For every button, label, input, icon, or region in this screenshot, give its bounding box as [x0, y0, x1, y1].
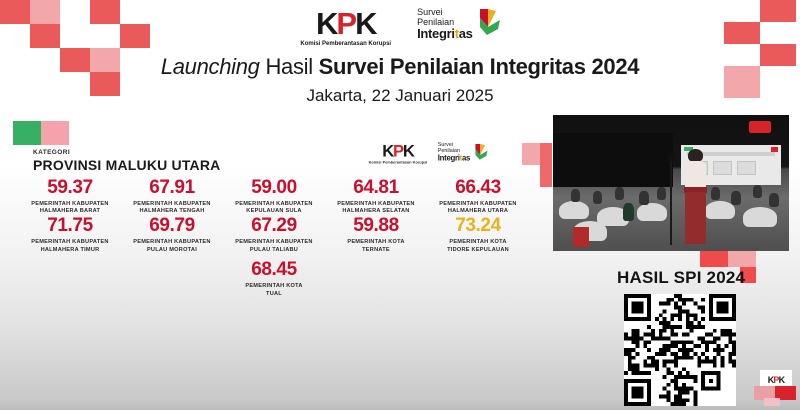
score-label: PEMERINTAH KABUPATENHALMAHERA SELATAN — [327, 201, 425, 216]
score-row: 59.37PEMERINTAH KABUPATENHALMAHERA BARAT… — [18, 178, 530, 216]
score-value: 66.43 — [429, 178, 527, 198]
title-bold-part: Survei Penilaian Integritas 2024 — [319, 54, 640, 79]
kpk-wordmark: KPK — [316, 8, 375, 39]
kpk-letter-k1: K — [316, 6, 336, 41]
score-label: PEMERINTAH KABUPATENHALMAHERA TENGAH — [123, 201, 221, 216]
spi-logo: Survei Penilaian Integritas — [417, 8, 500, 41]
score-cell: 66.43PEMERINTAH KABUPATENHALMAHERA UTARA — [427, 178, 529, 216]
score-row: 71.75PEMERINTAH KABUPATENHALMAHERA TIMUR… — [18, 216, 530, 254]
logo-lockup: KPK Komisi Pemberantasan Korupsi Survei … — [0, 0, 800, 47]
qr-code[interactable] — [624, 294, 736, 406]
kpk-tagline: Komisi Pemberantasan Korupsi — [300, 41, 391, 47]
score-value: 69.79 — [123, 216, 221, 236]
score-label-line1: PEMERINTAH KABUPATEN — [21, 201, 119, 209]
chip-pink — [41, 121, 69, 145]
photo-table — [559, 201, 589, 219]
score-cell: 59.88PEMERINTAH KOTATERNATE — [325, 216, 427, 254]
score-cell: 64.81PEMERINTAH KABUPATENHALMAHERA SELAT… — [325, 178, 427, 216]
inline-spi-checkmark-icon — [473, 144, 488, 160]
photo-attendee — [615, 187, 624, 200]
score-label: PEMERINTAH KABUPATENPULAU TALIABU — [225, 239, 323, 254]
inline-kpk-logo: KPK Komisi Pemberantasan Korupsi — [370, 143, 426, 165]
score-value: 73.24 — [429, 216, 527, 236]
spi-integri-text: Integri — [417, 26, 455, 41]
score-label-line1: PEMERINTAH KOTA — [225, 283, 323, 291]
inline-spi-line-integritas: Integritas — [438, 155, 470, 163]
kpk-watermark: KPK — [754, 368, 796, 406]
score-cell: 71.75PEMERINTAH KABUPATENHALMAHERA TIMUR — [19, 216, 121, 254]
photo-screen-box-2 — [713, 161, 732, 175]
inline-kpk-letter-k1: K — [382, 142, 393, 161]
watermark-square-light — [764, 398, 780, 406]
inline-kpk-tagline: Komisi Pemberantasan Korupsi — [369, 161, 428, 165]
score-label-line2: PULAU MOROTAI — [123, 247, 221, 255]
photo-attendee — [623, 203, 634, 221]
category-name: PROVINSI MALUKU UTARA — [33, 157, 221, 173]
photo-table — [637, 203, 667, 221]
kpk-letter-k2: K — [355, 6, 375, 41]
score-label: PEMERINTAH KOTATUAL — [225, 283, 323, 298]
decor-square — [540, 143, 552, 165]
photo-speaker-skirt — [685, 192, 706, 244]
photo-microphone-stand — [670, 159, 672, 245]
score-cell: 59.00PEMERINTAH KABUPATENKEPULAUAN SULA — [223, 178, 325, 216]
photo-attendee — [657, 187, 666, 200]
spi-checkmark-icon — [476, 9, 500, 35]
score-value: 68.45 — [225, 260, 323, 280]
score-label-line2: HALMAHERA TIMUR — [21, 247, 119, 255]
spi-wordmark: Survei Penilaian Integritas — [417, 8, 473, 41]
decor-square — [700, 251, 728, 267]
score-cell: 59.37PEMERINTAH KABUPATENHALMAHERA BARAT — [19, 178, 121, 216]
photo-attendee — [753, 185, 762, 198]
score-value: 59.88 — [327, 216, 425, 236]
inline-kpk-wordmark: KPK — [382, 143, 413, 160]
category-color-chip — [13, 121, 69, 145]
spi-as-text: as — [459, 26, 473, 41]
score-label: PEMERINTAH KOTATERNATE — [327, 239, 425, 254]
score-label-line1: PEMERINTAH KOTA — [429, 239, 527, 247]
photo-attendee — [711, 187, 720, 200]
photo-table — [743, 207, 777, 227]
kpk-letter-p: P — [336, 6, 355, 41]
score-label-line2: TERNATE — [327, 247, 425, 255]
header: KPK Komisi Pemberantasan Korupsi Survei … — [0, 0, 800, 106]
photo-speaker-top — [685, 161, 706, 189]
photo-attendee — [639, 191, 649, 205]
photo-dark-panel — [553, 133, 673, 187]
title-regular-part: Hasil — [265, 54, 312, 79]
photo-speaker — [683, 149, 709, 247]
score-cell: 67.29PEMERINTAH KABUPATENPULAU TALIABU — [223, 216, 325, 254]
score-label-line1: PEMERINTAH KABUPATEN — [123, 201, 221, 209]
score-label: PEMERINTAH KABUPATENKEPULAUAN SULA — [225, 201, 323, 216]
decor-square — [540, 165, 552, 187]
photo-attendee — [571, 189, 580, 202]
score-value: 64.81 — [327, 178, 425, 198]
score-label-line1: PEMERINTAH KABUPATEN — [327, 201, 425, 209]
score-label: PEMERINTAH KOTATIDORE KEPULAUAN — [429, 239, 527, 254]
score-label-line1: PEMERINTAH KABUPATEN — [21, 239, 119, 247]
photo-attendee — [769, 193, 779, 207]
chip-green — [13, 121, 41, 145]
score-value: 71.75 — [21, 216, 119, 236]
score-label-line2: PULAU TALIABU — [225, 247, 323, 255]
score-row: 68.45PEMERINTAH KOTATUAL — [18, 260, 530, 298]
spi-line-integritas: Integritas — [417, 27, 473, 41]
score-label: PEMERINTAH KABUPATENPULAU MOROTAI — [123, 239, 221, 254]
page-title: Launching Hasil Survei Penilaian Integri… — [0, 54, 800, 80]
photo-backdrop-logo — [749, 121, 771, 133]
score-value: 59.00 — [225, 178, 323, 198]
inline-spi-integri-text: Integri — [438, 154, 460, 163]
score-label-line1: PEMERINTAH KABUPATEN — [225, 201, 323, 209]
score-value: 67.91 — [123, 178, 221, 198]
inline-spi-wordmark: Survei Penilaian Integritas — [438, 143, 470, 163]
score-label: PEMERINTAH KABUPATENHALMAHERA TIMUR — [21, 239, 119, 254]
inline-spi-as-text: as — [462, 154, 470, 163]
score-grid: 59.37PEMERINTAH KABUPATENHALMAHERA BARAT… — [18, 178, 530, 298]
score-cell: 73.24PEMERINTAH KOTATIDORE KEPULAUAN — [427, 216, 529, 254]
score-cell: 67.91PEMERINTAH KABUPATENHALMAHERA TENGA… — [121, 178, 223, 216]
score-label-line1: PEMERINTAH KABUPATEN — [429, 201, 527, 209]
score-label-line2: TIDORE KEPULAUAN — [429, 247, 527, 255]
watermark-wordmark: KPK — [768, 375, 785, 385]
score-cell: 69.79PEMERINTAH KABUPATENPULAU MOROTAI — [121, 216, 223, 254]
category-heading: KATEGORI PROVINSI MALUKU UTARA — [33, 150, 221, 173]
decor-square — [728, 251, 756, 267]
qr-caption: HASIL SPI 2024 — [617, 268, 745, 288]
photo-screen-box-3 — [737, 161, 756, 175]
photo-table — [705, 201, 735, 219]
inline-logo-lockup: KPK Komisi Pemberantasan Korupsi Survei … — [370, 143, 488, 165]
photo-flag — [573, 227, 589, 247]
watermark-k2: K — [779, 375, 785, 385]
inline-kpk-letter-k2: K — [403, 142, 414, 161]
score-label-line1: PEMERINTAH KABUPATEN — [225, 239, 323, 247]
photo-attendee — [593, 191, 602, 204]
event-photo — [553, 115, 789, 251]
photo-screen-red-mark — [771, 147, 778, 152]
inline-kpk-letter-p: P — [393, 142, 403, 161]
score-label-line2: TUAL — [225, 291, 323, 299]
photo-microphone-head — [667, 155, 675, 161]
score-cell: 68.45PEMERINTAH KOTATUAL — [223, 260, 325, 298]
inline-spi-logo: Survei Penilaian Integritas — [438, 143, 488, 163]
score-value: 59.37 — [21, 178, 119, 198]
title-italic-part: Launching — [161, 54, 260, 79]
kpk-logo: KPK Komisi Pemberantasan Korupsi — [300, 8, 391, 47]
score-label: PEMERINTAH KABUPATENHALMAHERA UTARA — [429, 201, 527, 216]
score-label-line1: PEMERINTAH KOTA — [327, 239, 425, 247]
page-subtitle: Jakarta, 22 Januari 2025 — [0, 86, 800, 106]
score-value: 67.29 — [225, 216, 323, 236]
photo-attendee — [731, 191, 741, 205]
score-label-line1: PEMERINTAH KABUPATEN — [123, 239, 221, 247]
score-label: PEMERINTAH KABUPATENHALMAHERA BARAT — [21, 201, 119, 216]
